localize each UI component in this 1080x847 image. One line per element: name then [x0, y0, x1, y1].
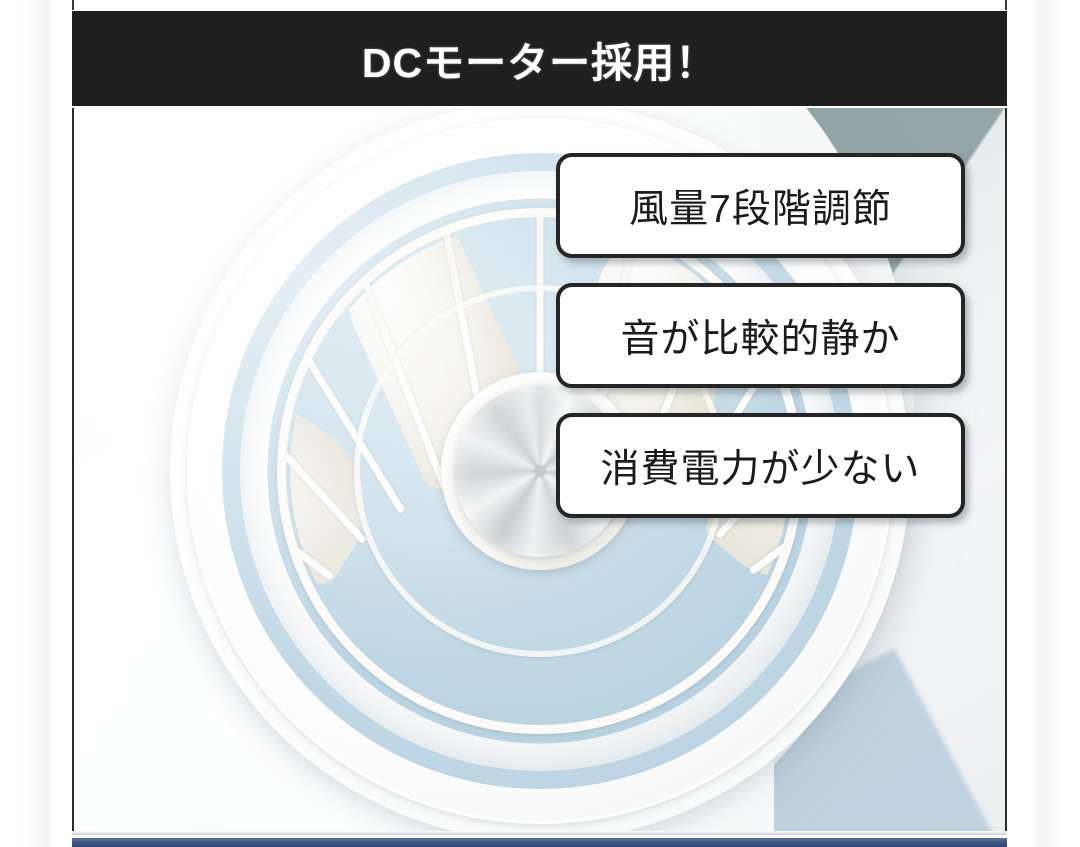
feature-callout-1[interactable]: 風量7段階調節 — [556, 153, 965, 258]
feature-callout-3[interactable]: 消費電力が少ない — [556, 413, 965, 518]
feature-callout-1-label: 風量7段階調節 — [629, 178, 892, 234]
fan-hub-center-dot — [535, 466, 545, 476]
photo-bottom-edge — [72, 831, 1007, 835]
product-photo: 風量7段階調節 音が比較的静か 消費電力が少ない — [72, 108, 1007, 833]
top-white-strip — [72, 0, 1007, 10]
product-photo-canvas: 風量7段階調節 音が比較的静か 消費電力が少ない — [74, 108, 1005, 833]
page-gutter-right — [1034, 0, 1080, 847]
page-gutter-left — [0, 0, 52, 847]
content-column: DCモーター採用！ — [72, 0, 1007, 847]
headline-banner: DCモーター採用！ — [72, 11, 1007, 106]
bottom-accent-bar — [72, 838, 1007, 847]
banner-title: DCモーター採用！ — [362, 29, 717, 89]
feature-callout-list: 風量7段階調節 音が比較的静か 消費電力が少ない — [556, 153, 966, 543]
feature-callout-2-label: 音が比較的静か — [620, 308, 900, 364]
feature-callout-3-label: 消費電力が少ない — [600, 438, 920, 494]
feature-callout-2[interactable]: 音が比較的静か — [556, 283, 965, 388]
